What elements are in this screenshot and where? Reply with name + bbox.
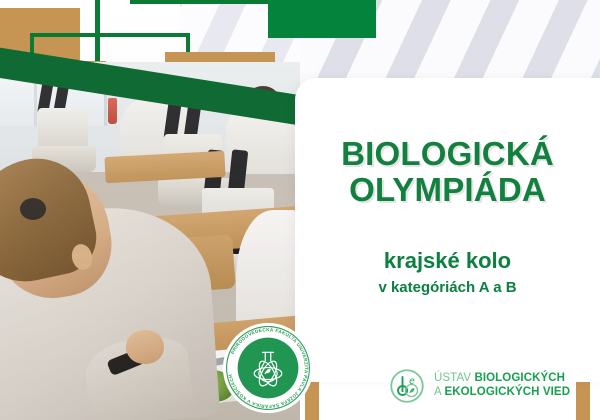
title-line-1: BIOLOGICKÁ (341, 135, 554, 172)
ubev-line1-bold: BIOLOGICKÝCH (474, 372, 565, 384)
green-solid-rectangle (268, 0, 376, 38)
ubev-logo: e ÚSTAV BIOLOGICKÝCH A EKOLOGICKÝCH VIED (389, 368, 570, 404)
content-card-inner: BIOLOGICKÁ OLYMPIÁDA krajské kolo v kate… (295, 78, 600, 382)
upjs-seal-icon: PRÍRODOVEDECKÁ FAKULTA UNIVERZITA PAVLA … (222, 322, 314, 414)
be-leaf-circle-icon: e (389, 368, 425, 404)
category-line: v kategóriách A a B (295, 279, 600, 296)
ubev-line-2: A EKOLOGICKÝCH VIED (434, 386, 570, 400)
content-card: BIOLOGICKÁ OLYMPIÁDA krajské kolo v kate… (295, 78, 600, 382)
ubev-line-1: ÚSTAV BIOLOGICKÝCH (434, 372, 570, 386)
ubev-logo-text: ÚSTAV BIOLOGICKÝCH A EKOLOGICKÝCH VIED (434, 372, 570, 399)
poster-root: BIOLOGICKÁ OLYMPIÁDA krajské kolo v kate… (0, 0, 600, 420)
ubev-line1-light: ÚSTAV (434, 372, 471, 384)
page-title: BIOLOGICKÁ OLYMPIÁDA (295, 136, 600, 207)
ubev-line2-light: A (434, 386, 441, 398)
subtitle: krajské kolo (295, 248, 600, 274)
ubev-line2-bold: EKOLOGICKÝCH VIED (444, 386, 570, 398)
green-horizontal-line-top (130, 0, 276, 4)
title-line-2: OLYMPIÁDA (295, 172, 600, 208)
